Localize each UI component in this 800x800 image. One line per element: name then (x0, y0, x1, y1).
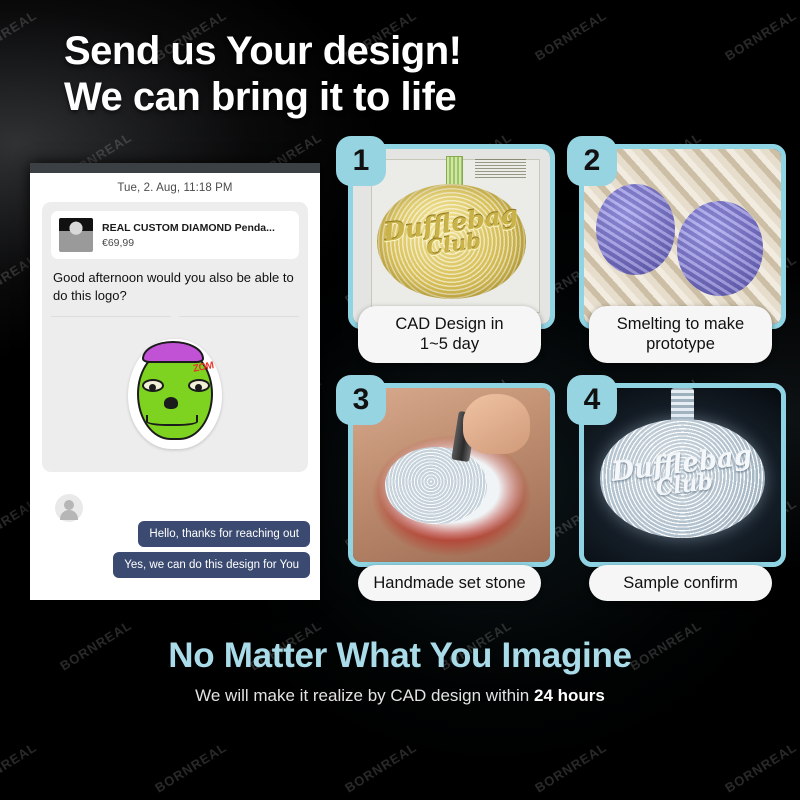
footer-subtext-prefix: We will make it realize by CAD design wi… (195, 686, 534, 705)
footer: No Matter What You Imagine We will make … (0, 636, 800, 706)
chat-body: Tue, 2. Aug, 11:18 PM REAL CUSTOM DIAMON… (30, 173, 320, 600)
wax-blob-left (596, 184, 675, 275)
step-caption-4: Sample confirm (589, 565, 772, 601)
chat-timestamp: Tue, 2. Aug, 11:18 PM (40, 173, 310, 202)
reply-bubbles: Hello, thanks for reaching out Yes, we c… (113, 521, 310, 578)
chat-topbar (30, 163, 320, 173)
step-card-3[interactable]: 3 Handmade set stone (336, 375, 555, 602)
headline-line-1: Send us Your design! (64, 28, 461, 74)
message-divider (51, 316, 299, 317)
customer-logo-image[interactable]: ZOM (120, 327, 230, 459)
step-caption-4-line-1: Sample confirm (595, 573, 766, 593)
step-card-1[interactable]: Dufflebag Club 1 CAD Design in 1~5 day (336, 136, 555, 363)
step-caption-1: CAD Design in 1~5 day (358, 306, 541, 362)
step-badge-1: 1 (336, 136, 386, 186)
zombie-nose-icon (164, 397, 178, 409)
incoming-message: Good afternoon would you also be able to… (51, 259, 299, 314)
avatar (55, 494, 83, 522)
step-caption-1-line-1: CAD Design in (364, 314, 535, 334)
step-badge-4: 4 (567, 375, 617, 425)
chat-thread: REAL CUSTOM DIAMOND Penda... €69,99 Good… (42, 202, 308, 472)
headline-line-2: We can bring it to life (64, 74, 461, 120)
footer-subtext-highlight: 24 hours (534, 686, 605, 705)
step-badge-3: 3 (336, 375, 386, 425)
wax-blob-right (677, 201, 764, 295)
step-card-2[interactable]: 2 Smelting to make prototype (567, 136, 786, 363)
cad-bail (446, 156, 464, 186)
stone-plate (385, 447, 487, 524)
reply-bubble: Yes, we can do this design for You (113, 552, 310, 578)
step-caption-1-line-2: 1~5 day (364, 334, 535, 354)
process-steps-grid: Dufflebag Club 1 CAD Design in 1~5 day 2… (336, 136, 786, 601)
product-card[interactable]: REAL CUSTOM DIAMOND Penda... €69,99 (51, 211, 299, 259)
step-caption-2-line-1: Smelting to make (595, 314, 766, 334)
product-thumbnail-icon (59, 218, 93, 252)
zombie-left-eye-icon (142, 379, 164, 392)
chat-screenshot-panel: Tue, 2. Aug, 11:18 PM REAL CUSTOM DIAMON… (30, 163, 320, 600)
footer-subtext: We will make it realize by CAD design wi… (0, 686, 800, 706)
product-title: REAL CUSTOM DIAMOND Penda... (102, 222, 275, 234)
step-badge-2: 2 (567, 136, 617, 186)
step-caption-3: Handmade set stone (358, 565, 541, 601)
reply-bubble: Hello, thanks for reaching out (138, 521, 310, 547)
step-caption-3-line-1: Handmade set stone (364, 573, 535, 593)
cad-annotations (475, 159, 526, 180)
step-caption-2-line-2: prototype (595, 334, 766, 354)
zombie-right-eye-icon (188, 379, 210, 392)
footer-headline: No Matter What You Imagine (0, 636, 800, 676)
product-price: €69,99 (102, 237, 275, 249)
step-caption-2: Smelting to make prototype (589, 306, 772, 362)
product-meta: REAL CUSTOM DIAMOND Penda... €69,99 (102, 222, 275, 249)
zombie-mouth-icon (146, 415, 198, 426)
hand-finger (463, 394, 530, 453)
page-title: Send us Your design! We can bring it to … (64, 28, 461, 121)
step-card-4[interactable]: Dufflebag Club 4 Sample confirm (567, 375, 786, 602)
